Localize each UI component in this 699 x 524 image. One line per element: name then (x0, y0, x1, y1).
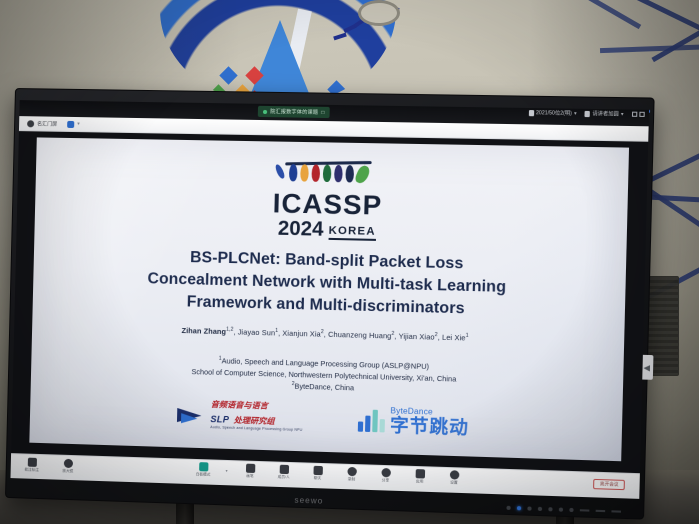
bezel-button[interactable] (559, 508, 563, 512)
pen-icon (27, 458, 36, 467)
slide-affiliations: 1Audio, Speech and Language Processing G… (31, 350, 624, 402)
bottom-toolbar-label-brush: 画笔 (246, 474, 253, 479)
bezel-button[interactable] (527, 506, 531, 510)
aslp-en: SLP (210, 414, 229, 425)
bottom-toolbar-item-chat[interactable]: 聊天 (306, 466, 329, 482)
aslp-logo: 音频语音与语言 SLP 处理研究组 Audio, Speech and Lang… (177, 400, 303, 433)
expand-icon[interactable]: □ (321, 109, 324, 115)
record-icon (347, 467, 356, 476)
bottom-toolbar-item-pen[interactable]: 批注标注 (21, 457, 43, 473)
display-screen[interactable]: 院汇报数字体的课题 □ 2021/50位2(明) ▾ 请讲者加圆 ▾ (10, 100, 649, 499)
bottom-toolbar-item-record[interactable]: 录制 (340, 467, 363, 483)
whiteboard-icon (199, 462, 208, 471)
app-toolbar-item-0[interactable]: 名汇门屏 (27, 120, 57, 128)
bezel-button[interactable] (569, 508, 573, 512)
bottom-toolbar-item-whiteboard[interactable]: 白板模式 (192, 462, 215, 478)
person-icon (279, 465, 288, 474)
icassp-lantern-graphic-icon (270, 156, 386, 191)
bytedance-cn: 字节跳动 (390, 416, 469, 437)
leave-meeting-button[interactable]: 离开会议 (593, 479, 624, 490)
bottom-toolbar-label-record: 录制 (348, 477, 356, 482)
bottom-toolbar-label-whiteboard: 白板模式 (196, 472, 211, 478)
os-status-item-time[interactable]: 2021/50位2(明) ▾ (529, 109, 577, 117)
window-controls[interactable] (632, 112, 645, 117)
speaker-icon (585, 110, 590, 116)
chevron-down-icon[interactable]: ▾ (226, 468, 228, 473)
interactive-display[interactable]: ◀ 院汇报数字体的课题 □ 2021/50位2(明) ▾ 请讲者加圆 ▾ (5, 88, 655, 520)
room-scene: ◀ 院汇报数字体的课题 □ 2021/50位2(明) ▾ 请讲者加圆 ▾ (0, 0, 699, 524)
magnifier-icon (63, 459, 72, 468)
gear-icon (449, 470, 459, 479)
bottom-toolbar-label-chat: 聊天 (314, 476, 322, 481)
bezel-power-led (517, 506, 521, 510)
minimize-icon[interactable] (632, 112, 637, 117)
page-icon (67, 120, 74, 127)
chat-icon (313, 466, 322, 475)
app-icon (27, 120, 34, 127)
bottom-toolbar-label-pen: 批注标注 (24, 468, 38, 473)
meeting-title-tab[interactable]: 院汇报数字体的课题 □ (258, 106, 330, 118)
app-toolbar-label-0: 名汇门屏 (37, 120, 57, 127)
os-status-item-speaker[interactable]: 请讲者加圆 ▾ (585, 110, 624, 118)
presentation-slide: ICASSP 2024 KOREA BS-PLCNet: Band-split … (29, 137, 629, 461)
maximize-icon[interactable] (639, 112, 644, 117)
bottom-toolbar-label-settings: 设置 (450, 480, 458, 485)
chevron-down-icon[interactable]: ▾ (574, 110, 577, 116)
aslp-arrow-mark-icon (177, 405, 208, 426)
slide-sponsor-logos: 音频语音与语言 SLP 处理研究组 Audio, Speech and Lang… (30, 396, 623, 443)
bottom-toolbar-label-magnifier: 放大镜 (62, 469, 73, 474)
chevron-down-icon[interactable]: ▾ (621, 111, 624, 117)
icassp-country: KOREA (328, 226, 375, 241)
bottom-toolbar-item-brush[interactable]: 画笔 (239, 463, 262, 479)
ceiling-fixture-icon (358, 0, 400, 26)
icassp-logo: ICASSP 2024 KOREA (34, 151, 628, 246)
bottom-toolbar-item-apps[interactable]: 应用 (408, 469, 431, 485)
aslp-tagline: Audio, Speech and Language Processing Gr… (210, 427, 302, 433)
bytedance-logo: ByteDance 字节跳动 (358, 407, 470, 437)
chevron-down-icon[interactable]: ▾ (77, 121, 80, 127)
bottom-toolbar-center-group[interactable]: 白板模式 ▾ 画笔 成员/人 聊天 (192, 462, 466, 486)
aslp-cn-bottom: 处理研究组 (234, 415, 275, 425)
bezel-slot (611, 510, 621, 512)
bezel-slot (580, 509, 590, 511)
icassp-year: 2024 (278, 219, 324, 240)
meeting-title-label: 院汇报数字体的课题 (270, 108, 318, 116)
bottom-toolbar-item-person[interactable]: 成员/人 (272, 464, 295, 480)
bottom-toolbar-item-magnifier[interactable]: 放大镜 (57, 459, 79, 475)
slide-title: BS-PLCNet: Band-split Packet Loss Concea… (33, 244, 627, 325)
bezel-slot (596, 510, 606, 512)
bottom-toolbar-label-person: 成员/人 (278, 475, 290, 480)
os-status-speaker-label: 请讲者加圆 (592, 110, 619, 118)
bottom-toolbar-item-settings[interactable]: 设置 (442, 470, 465, 486)
bezel-button[interactable] (538, 507, 542, 511)
bottom-toolbar-item-share[interactable]: 分享 (374, 468, 397, 484)
status-dot-icon (263, 109, 267, 113)
bezel-led (506, 506, 510, 510)
display-brand-label: seewo (294, 496, 323, 506)
bytedance-bars-icon (358, 409, 385, 432)
os-status-time-label: 2021/50位2(明) (536, 109, 572, 117)
slide-canvas-area[interactable]: ICASSP 2024 KOREA BS-PLCNet: Band-split … (10, 131, 648, 499)
slide-authors: Zihan Zhang1,2, Jiayao Sun1, Xianjun Xia… (32, 322, 624, 347)
bottom-toolbar-label-apps: 应用 (416, 479, 424, 484)
bezel-button[interactable] (548, 507, 552, 511)
brush-icon (245, 464, 254, 473)
bottom-toolbar-left-group[interactable]: 批注标注 放大镜 (21, 457, 79, 474)
bottom-toolbar-label-share: 分享 (382, 478, 390, 483)
apps-icon (415, 469, 425, 478)
clock-icon (529, 110, 534, 116)
share-icon (381, 468, 391, 477)
app-toolbar-item-1[interactable]: ▾ (67, 120, 80, 127)
